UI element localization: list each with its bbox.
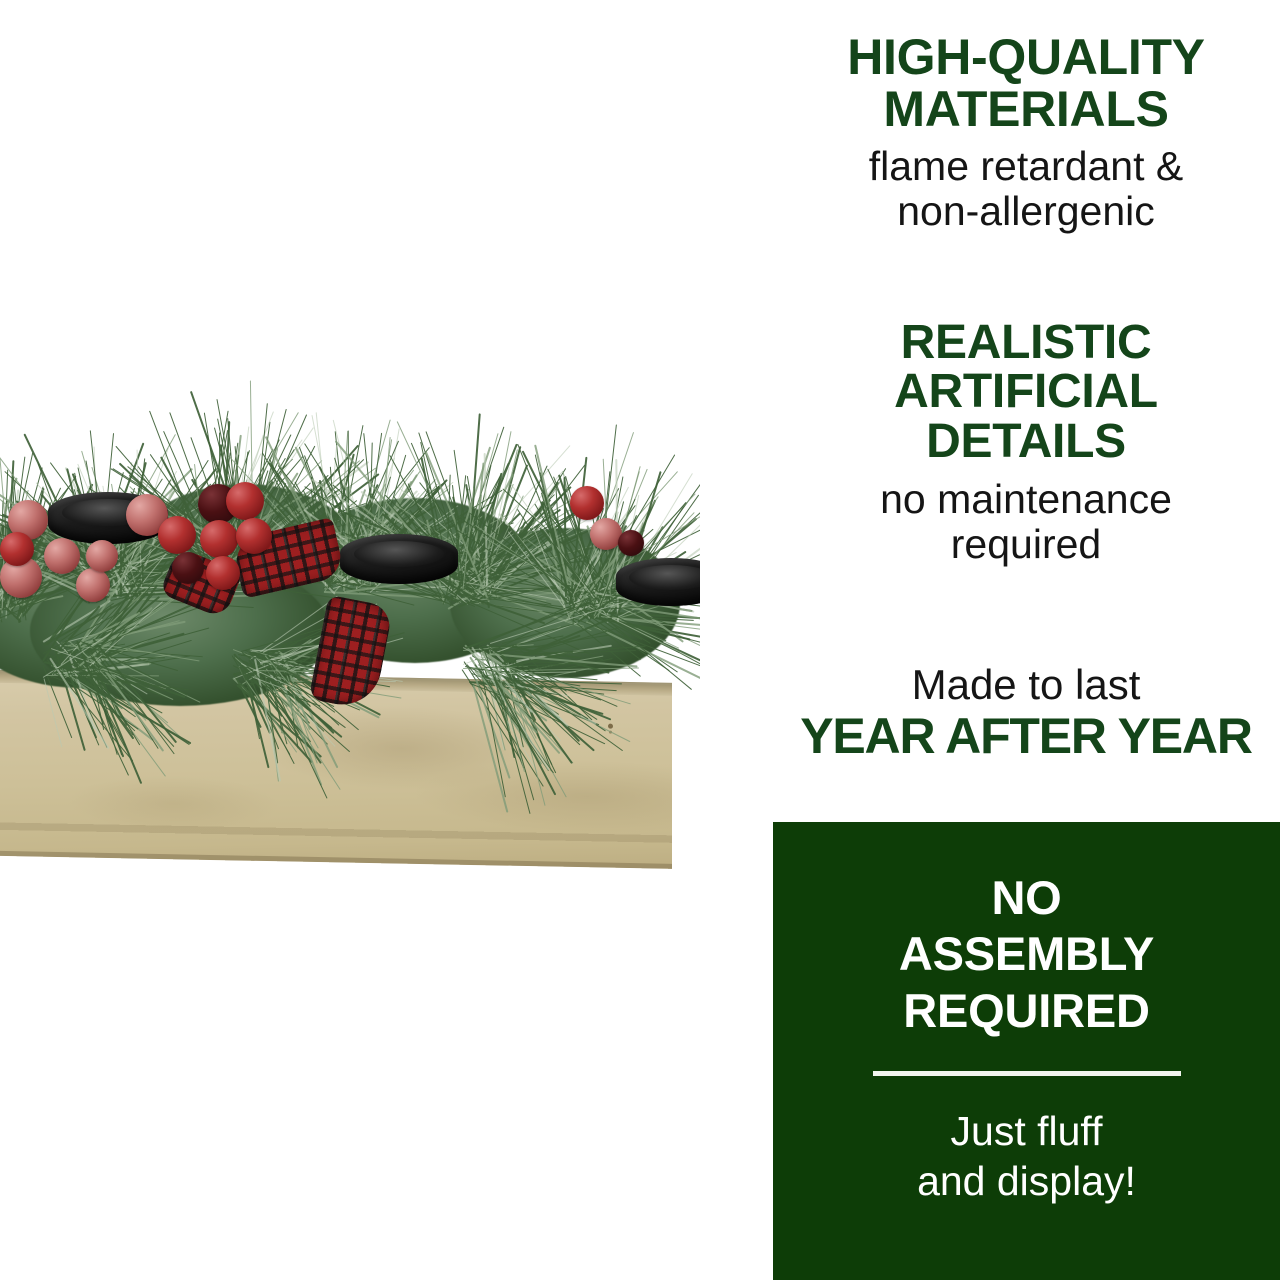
berry [236,518,272,554]
berry [226,482,264,520]
no-assembly-panel: NO ASSEMBLY REQUIRED Just fluff and disp… [773,822,1280,1280]
candle-cup-right [616,558,700,606]
details-subtext: no maintenance required [772,477,1280,567]
crate-nail-icon [608,724,613,729]
details-heading: REALISTIC ARTIFICIAL DETAILS [772,318,1280,466]
berry [76,568,110,602]
berry [86,540,118,572]
feature-block-durability: Made to last YEAR AFTER YEAR [772,662,1280,763]
panel-heading: NO ASSEMBLY REQUIRED [773,822,1280,1039]
panel-subtext: Just fluff and display! [773,1106,1280,1206]
durability-heading: YEAR AFTER YEAR [772,711,1280,763]
berry [44,538,80,574]
candle-cup-center [340,534,458,584]
berry [200,520,238,558]
materials-heading: HIGH-QUALITY MATERIALS [772,32,1280,135]
product-photo [0,0,700,900]
feature-block-details: REALISTIC ARTIFICIAL DETAILS no maintena… [772,318,1280,568]
berry [618,530,644,556]
panel-divider [873,1071,1181,1076]
durability-subtext: Made to last [772,662,1280,708]
feature-block-materials: HIGH-QUALITY MATERIALS flame retardant &… [772,32,1280,234]
berry [206,556,240,590]
marketing-infographic: HIGH-QUALITY MATERIALS flame retardant &… [0,0,1280,1280]
berry [570,486,604,520]
berry [172,552,204,584]
materials-subtext: flame retardant & non-allergenic [772,144,1280,234]
berry [0,532,34,566]
berry [158,516,196,554]
